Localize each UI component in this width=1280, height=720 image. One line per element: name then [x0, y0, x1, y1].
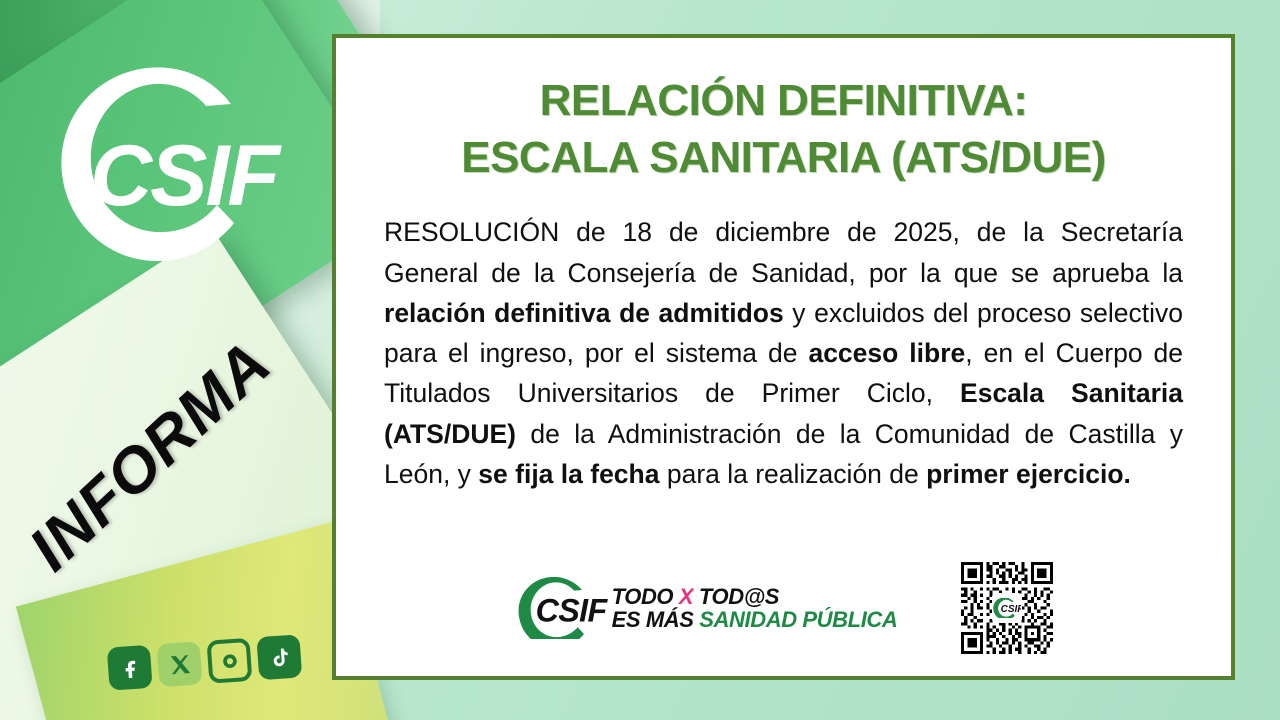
slogan-line-2: ES MÁS SANIDAD PÚBLICA — [612, 608, 898, 631]
slogan-x: X — [679, 584, 693, 609]
svg-text:CSIF: CSIF — [535, 593, 607, 629]
slogan-todas: TOD@S — [693, 584, 779, 609]
tiktok-icon[interactable] — [256, 634, 302, 680]
body-text-1: RESOLUCIÓN de 18 de diciembre de 2025, d… — [384, 217, 1183, 287]
slogan-todo: TODO — [612, 584, 679, 609]
qr-code[interactable]: CSIF — [961, 562, 1053, 654]
announcement-body: RESOLUCIÓN de 18 de diciembre de 2025, d… — [384, 212, 1183, 494]
body-bold-4: se fija la fecha — [478, 459, 659, 489]
facebook-icon[interactable] — [107, 645, 153, 691]
slogan-sanidad-publica: SANIDAD PÚBLICA — [699, 607, 897, 632]
csif-logo-large: CSIF — [28, 62, 298, 277]
instagram-icon[interactable] — [206, 638, 252, 684]
slogan-line-1: TODO X TOD@S — [612, 585, 898, 608]
body-bold-1: relación definitiva de admitidos — [384, 298, 784, 328]
title-line-2: ESCALA SANITARIA (ATS/DUE) — [364, 129, 1203, 186]
title-line-1: RELACIÓN DEFINITIVA: — [364, 72, 1203, 129]
csif-slogan: TODO X TOD@S ES MÁS SANIDAD PÚBLICA — [612, 585, 898, 632]
announcement-card: RELACIÓN DEFINITIVA: ESCALA SANITARIA (A… — [332, 34, 1235, 680]
poster-canvas: CSIF INFORMA RELACIÓN DE — [0, 0, 1280, 720]
body-text-5: para la realización de — [659, 459, 926, 489]
body-bold-2: acceso libre — [808, 338, 965, 368]
page-title: RELACIÓN DEFINITIVA: ESCALA SANITARIA (A… — [364, 72, 1203, 186]
body-bold-5: primer ejercicio. — [926, 459, 1131, 489]
card-footer: CSIF TODO X TOD@S ES MÁS SANIDAD PÚBLICA — [364, 562, 1203, 654]
slogan-es-mas: ES MÁS — [612, 607, 700, 632]
csif-brand-lockup: CSIF TODO X TOD@S ES MÁS SANIDAD PÚBLICA — [514, 577, 898, 639]
csif-logo-small: CSIF — [514, 577, 608, 639]
svg-text:CSIF: CSIF — [90, 128, 282, 224]
svg-text:CSIF: CSIF — [1001, 604, 1021, 615]
qr-center-logo: CSIF — [992, 593, 1022, 623]
x-twitter-icon[interactable] — [157, 641, 203, 687]
